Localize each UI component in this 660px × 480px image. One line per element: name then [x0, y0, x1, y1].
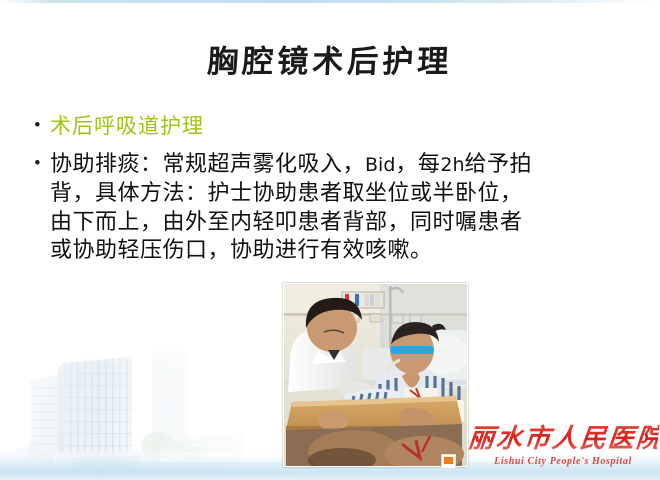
top-divider-rule — [0, 0, 660, 3]
slide-body: • 术后呼吸道护理 • 协助排痰：常规超声雾化吸入，Bid，每2h给予拍 背，具… — [28, 112, 640, 265]
clinical-photo — [283, 283, 468, 467]
bullet-marker-icon: • — [28, 150, 50, 178]
line1-dose-bid: Bid — [365, 154, 395, 176]
bullet-item-heading: • 术后呼吸道护理 — [28, 112, 640, 141]
bullet-body-text: 协助排痰：常规超声雾化吸入，Bid，每2h给予拍 背，具体方法：护士协助患者取坐… — [50, 150, 640, 265]
bullet-heading-line: 术后呼吸道护理 — [50, 112, 640, 141]
line1-part-c: ，每 — [395, 151, 440, 176]
bullet-body-line-1: 协助排痰：常规超声雾化吸入，Bid，每2h给予拍 — [50, 150, 640, 180]
bullet-body-line-3: 由下而上，由外至内轻叩患者背部，同时嘱患者 — [50, 208, 640, 237]
bullet-body-line-4: 或协助轻压伤口，协助进行有效咳嗽。 — [50, 236, 640, 265]
slide-canvas: 胸腔镜术后护理 • 术后呼吸道护理 • 协助排痰：常规超声雾化吸入，Bid，每2… — [0, 0, 660, 480]
line1-interval-2h: 2h — [440, 154, 464, 176]
orange-square-icon — [441, 454, 456, 469]
hospital-name-cn: 丽水市人民医院 — [466, 424, 659, 454]
bullet-item-body: • 协助排痰：常规超声雾化吸入，Bid，每2h给予拍 背，具体方法：护士协助患者… — [28, 150, 640, 265]
bullet-heading-text: 术后呼吸道护理 — [50, 112, 640, 141]
page-title: 胸腔镜术后护理 — [0, 36, 660, 81]
line1-part-e: 给予拍 — [465, 151, 533, 176]
bullet-body-line-2: 背，具体方法：护士协助患者取坐位或半卧位， — [50, 179, 640, 208]
bullet-marker-icon: • — [28, 112, 50, 140]
line1-part-a: 协助排痰：常规超声雾化吸入， — [50, 151, 365, 176]
hospital-logo: 丽水市人民医院 Lishui City People's Hospital — [468, 424, 658, 474]
hospital-name-en: Lishui City People's Hospital — [468, 455, 658, 468]
